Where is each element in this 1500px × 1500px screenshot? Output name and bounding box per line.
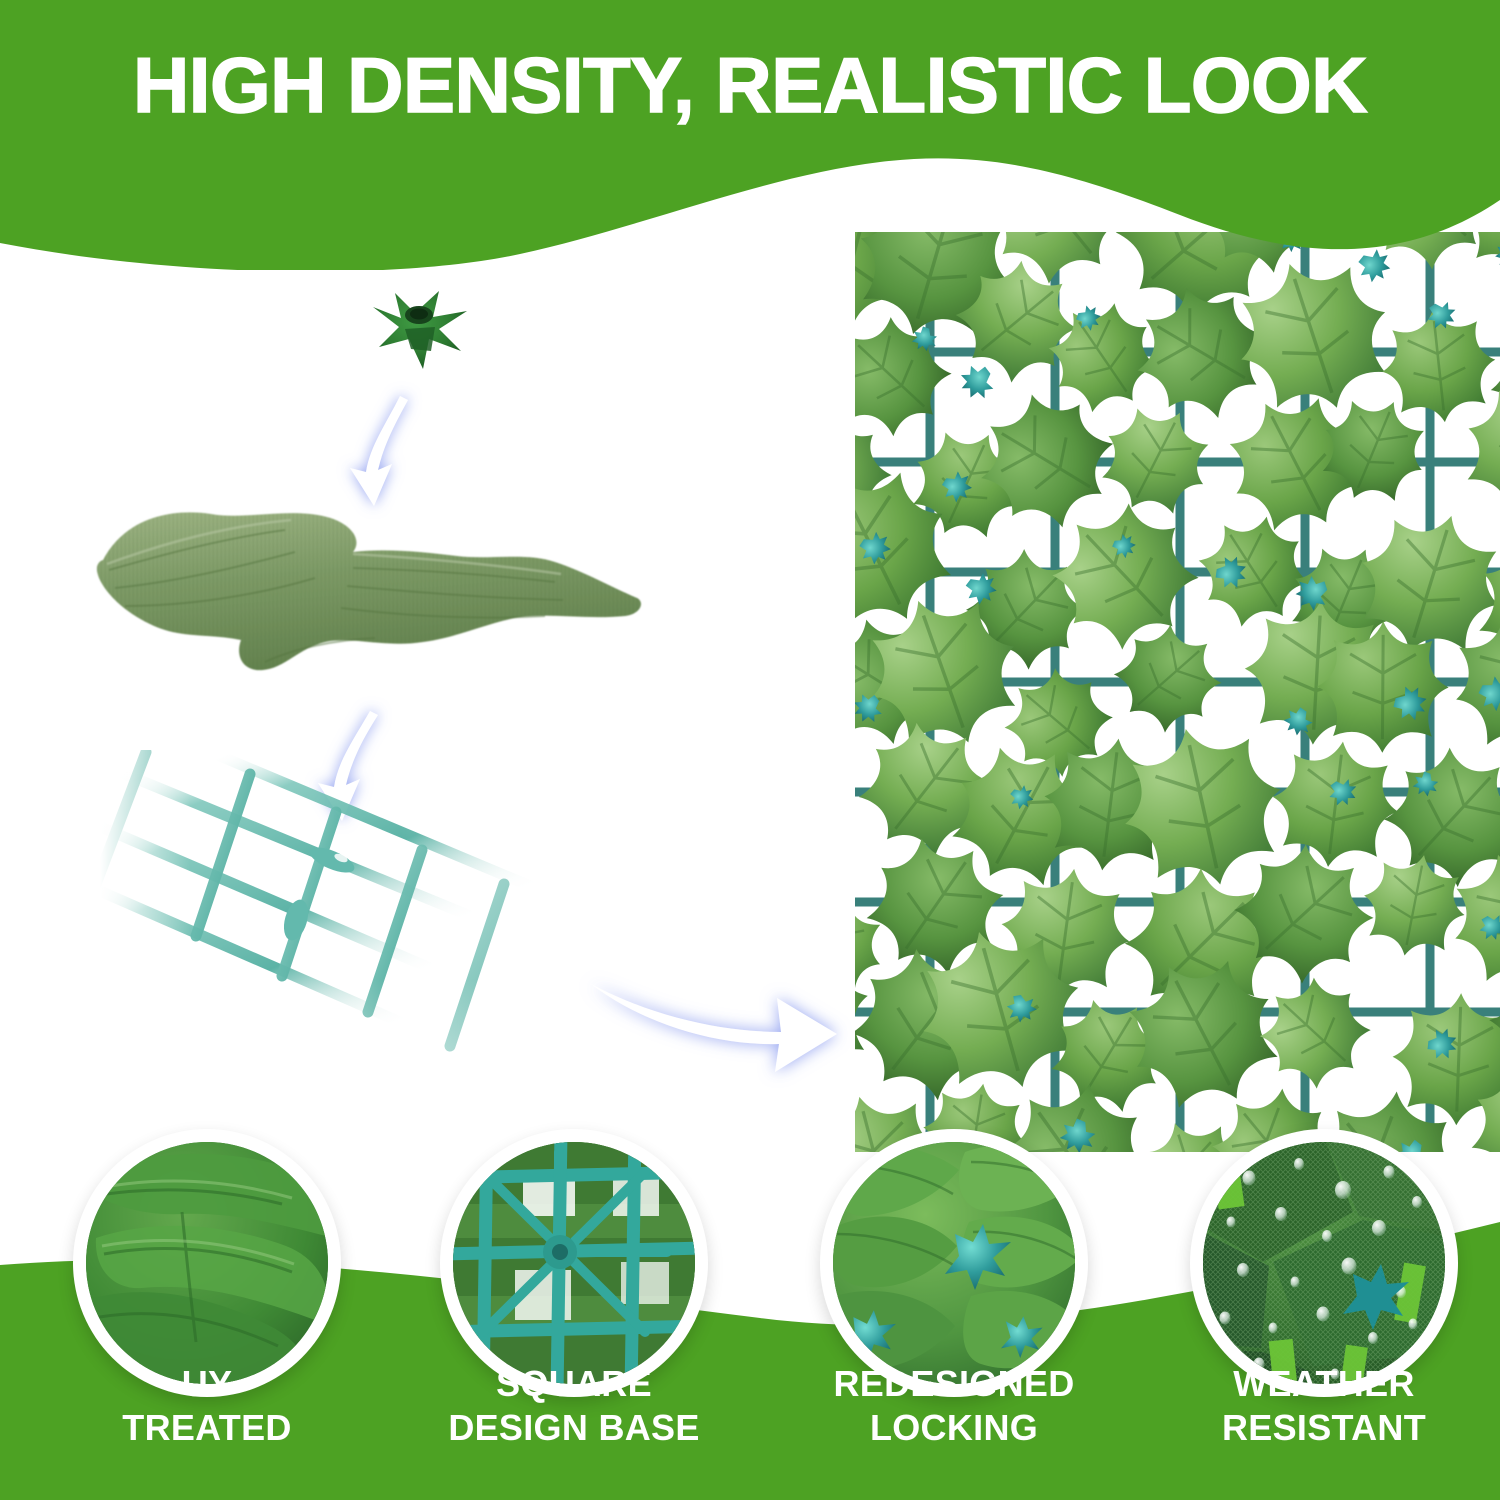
assembly-diagram xyxy=(40,250,870,1150)
star-pin-icon xyxy=(954,359,999,405)
artificial-hedge-panel xyxy=(855,232,1500,1152)
fabric-leaf-icon xyxy=(85,490,665,690)
leaf-closeup-icon xyxy=(86,1142,328,1384)
feature-label-uv-treated: UY TREATED xyxy=(57,1362,357,1450)
feature-label-line2: TREATED xyxy=(57,1406,357,1450)
page-title: HIGH DENSITY, REALISTIC LOOK xyxy=(0,44,1500,126)
feature-label-line1: SQUARE xyxy=(424,1362,724,1406)
feature-label-line1: WEATHER xyxy=(1174,1362,1474,1406)
feature-label-line2: RESISTANT xyxy=(1174,1406,1474,1450)
star-pin-icon xyxy=(833,1142,1075,1384)
assembly-arrow-3 xyxy=(585,960,865,1090)
feature-label-line2: LOCKING xyxy=(804,1406,1104,1450)
water-drops-icon xyxy=(1203,1142,1445,1384)
product-infographic: HIGH DENSITY, REALISTIC LOOK xyxy=(0,0,1500,1500)
star-pin-icon xyxy=(365,285,475,375)
grid-base-icon xyxy=(453,1142,695,1384)
leaf xyxy=(855,739,864,868)
grid-base-icon xyxy=(100,750,660,1110)
feature-label-redesigned-locking: REDESIGNED LOCKING xyxy=(804,1362,1104,1450)
feature-label-weather-resistant: WEATHER RESISTANT xyxy=(1174,1362,1474,1450)
feature-label-line1: REDESIGNED xyxy=(804,1362,1104,1406)
feature-labels: UY TREATED SQUARE DESIGN BASE REDESIGNED… xyxy=(0,1352,1500,1472)
feature-label-line1: UY xyxy=(57,1362,357,1406)
feature-label-line2: DESIGN BASE xyxy=(424,1406,724,1450)
feature-label-square-base: SQUARE DESIGN BASE xyxy=(424,1362,724,1450)
